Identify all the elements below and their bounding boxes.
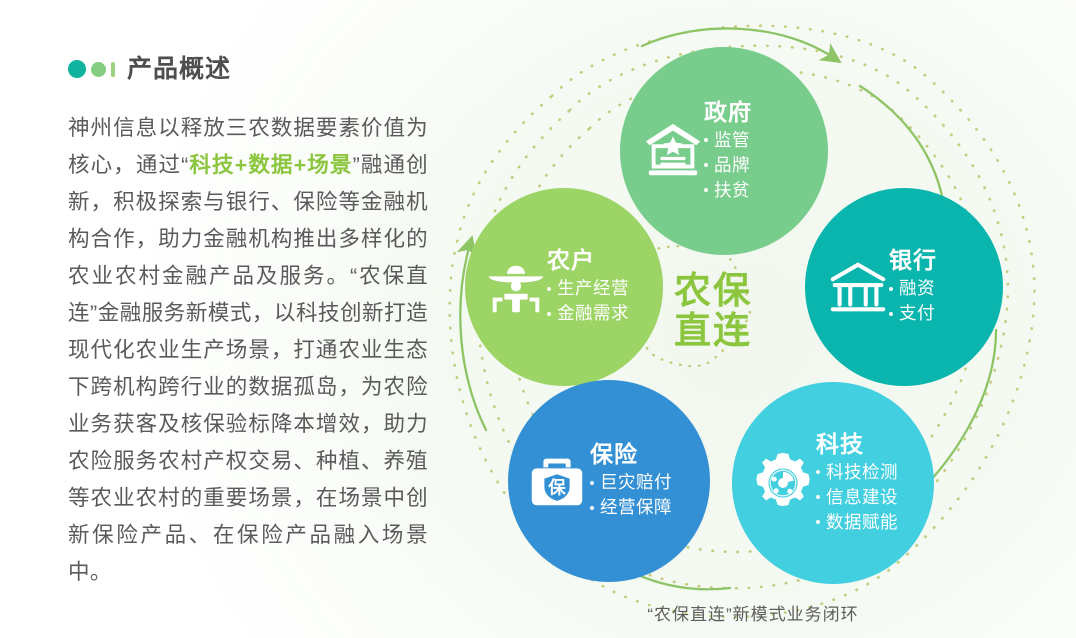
diagram-caption: “农保直连”新模式业务闭环 xyxy=(430,600,1076,625)
farmer-hat-icon xyxy=(485,256,547,318)
node-bank[interactable]: 银行 融资 支付 xyxy=(805,188,1003,386)
insurance-icon-glyph: 保 xyxy=(547,478,566,498)
government-building-icon xyxy=(642,120,704,182)
node-technology-item-2: 数据赋能 xyxy=(816,510,898,535)
infographic-page: 产品概述 神州信息以释放三农数据要素价值为核心，通过“科技+数据+场景”融通创新… xyxy=(0,0,1076,638)
node-bank-text: 银行 融资 支付 xyxy=(889,248,937,326)
node-farmer-item-1: 金融需求 xyxy=(547,301,629,326)
node-farmer-text: 农户 生产经营 金融需求 xyxy=(547,248,629,326)
node-bank-title: 银行 xyxy=(889,248,937,273)
node-farmer[interactable]: 农户 生产经营 金融需求 xyxy=(465,188,663,386)
paragraph-highlight: 科技+数据+场景 xyxy=(189,153,353,177)
node-farmer-title: 农户 xyxy=(547,248,629,273)
node-farmer-item-0: 生产经营 xyxy=(547,276,629,301)
node-insurance-item-0: 巨灾赔付 xyxy=(590,470,672,495)
node-insurance-title: 保险 xyxy=(590,442,672,467)
section-header: 产品概述 xyxy=(68,52,428,86)
node-technology-text: 科技 科技检测 信息建设 数据赋能 xyxy=(816,432,898,535)
center-label: 农保 直连 xyxy=(643,248,783,374)
overview-section: 产品概述 神州信息以释放三农数据要素价值为核心，通过“科技+数据+场景”融通创新… xyxy=(68,52,428,612)
node-government-item-0: 监管 xyxy=(704,128,752,153)
page-title: 产品概述 xyxy=(127,57,231,82)
node-government-item-1: 品牌 xyxy=(704,153,752,178)
node-bank-item-1: 支付 xyxy=(889,301,937,326)
business-loop-diagram: 政府 监管 品牌 扶贫 银行 融资 支付 xyxy=(430,0,1076,638)
gear-icon xyxy=(750,450,816,516)
node-government-title: 政府 xyxy=(704,100,752,125)
node-government[interactable]: 政府 监管 品牌 扶贫 xyxy=(620,47,828,255)
node-insurance-text: 保险 巨灾赔付 经营保障 xyxy=(590,442,672,520)
node-insurance-item-1: 经营保障 xyxy=(590,495,672,520)
dot-large-teal-icon xyxy=(68,60,86,78)
center-label-line1: 农保 xyxy=(674,271,752,311)
node-bank-item-0: 融资 xyxy=(889,276,937,301)
node-technology-item-1: 信息建设 xyxy=(816,485,898,510)
node-insurance[interactable]: 保 保险 巨灾赔付 经营保障 xyxy=(508,380,710,582)
node-government-item-2: 扶贫 xyxy=(704,178,752,203)
node-technology[interactable]: 科技 科技检测 信息建设 数据赋能 xyxy=(732,382,934,584)
center-label-line2: 直连 xyxy=(674,311,752,351)
paragraph-part-2: ”融通创新，积极探索与银行、保险等金融机构合作，助力金融机构推出多样化的农业农村… xyxy=(68,153,428,584)
dot-medium-green-icon xyxy=(91,62,106,77)
bank-columns-icon xyxy=(827,256,889,318)
overview-paragraph: 神州信息以释放三农数据要素价值为核心，通过“科技+数据+场景”融通创新，积极探索… xyxy=(68,110,428,591)
node-technology-item-0: 科技检测 xyxy=(816,460,898,485)
bar-green-icon xyxy=(111,62,115,77)
node-government-text: 政府 监管 品牌 扶贫 xyxy=(704,100,752,203)
node-technology-title: 科技 xyxy=(816,432,898,457)
insurance-briefcase-shield-icon: 保 xyxy=(524,448,590,514)
